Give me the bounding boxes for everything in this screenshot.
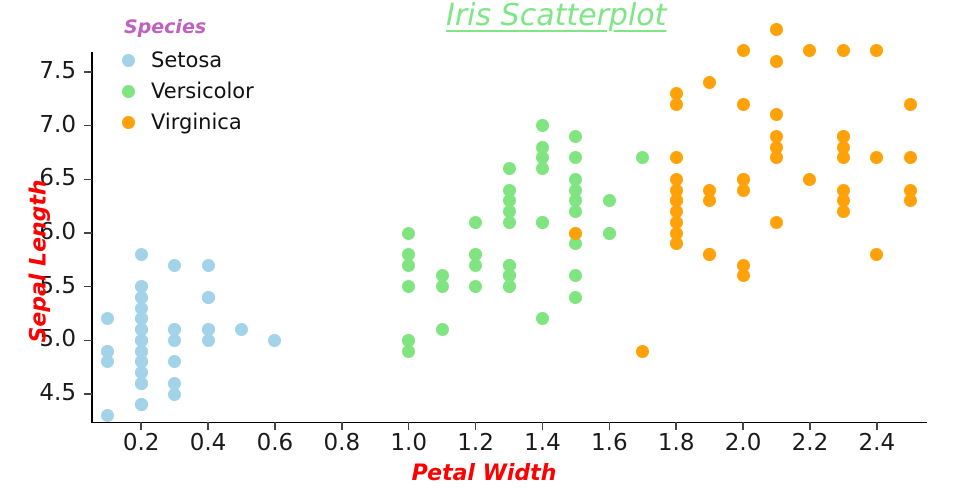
x-tick-label: 2.2 bbox=[775, 432, 845, 455]
data-point-versicolor bbox=[402, 227, 415, 240]
data-point-virginica bbox=[837, 205, 850, 218]
x-axis-spine bbox=[91, 422, 927, 424]
x-tick-label: 0.8 bbox=[307, 432, 377, 455]
data-point-virginica bbox=[870, 248, 883, 261]
data-point-versicolor bbox=[402, 334, 415, 347]
y-tick-mark bbox=[84, 125, 92, 127]
data-point-versicolor bbox=[569, 291, 582, 304]
data-point-setosa bbox=[168, 334, 181, 347]
data-point-virginica bbox=[837, 44, 850, 57]
legend-title: Species bbox=[124, 16, 254, 38]
legend-item-label: Setosa bbox=[151, 50, 222, 71]
legend-swatch-icon bbox=[122, 54, 135, 67]
data-point-versicolor bbox=[536, 216, 549, 229]
data-point-virginica bbox=[737, 269, 750, 282]
data-point-versicolor bbox=[503, 205, 516, 218]
x-tick-mark bbox=[876, 422, 878, 430]
x-tick-mark bbox=[809, 422, 811, 430]
x-axis-title: Petal Width bbox=[409, 461, 559, 486]
data-point-virginica bbox=[770, 151, 783, 164]
data-point-virginica bbox=[670, 184, 683, 197]
x-tick-label: 0.2 bbox=[106, 432, 176, 455]
data-point-virginica bbox=[904, 98, 917, 111]
y-axis-spine bbox=[91, 52, 93, 423]
data-point-virginica bbox=[670, 237, 683, 250]
data-point-virginica bbox=[837, 151, 850, 164]
data-point-versicolor bbox=[569, 130, 582, 143]
data-point-versicolor bbox=[469, 280, 482, 293]
data-point-versicolor bbox=[569, 269, 582, 282]
data-point-versicolor bbox=[402, 259, 415, 272]
data-point-virginica bbox=[870, 44, 883, 57]
data-point-versicolor bbox=[503, 259, 516, 272]
x-tick-label: 0.6 bbox=[240, 432, 310, 455]
legend-item-label: Versicolor bbox=[151, 81, 254, 102]
chart-title: Iris Scatterplot bbox=[446, 0, 666, 33]
data-point-virginica bbox=[737, 98, 750, 111]
data-point-virginica bbox=[670, 98, 683, 111]
data-point-versicolor bbox=[636, 151, 649, 164]
y-tick-mark bbox=[84, 232, 92, 234]
data-point-versicolor bbox=[503, 162, 516, 175]
data-point-virginica bbox=[770, 130, 783, 143]
x-tick-label: 1.8 bbox=[641, 432, 711, 455]
x-tick-mark bbox=[207, 422, 209, 430]
x-tick-mark bbox=[675, 422, 677, 430]
data-point-versicolor bbox=[469, 216, 482, 229]
data-point-virginica bbox=[737, 44, 750, 57]
y-tick-mark bbox=[84, 179, 92, 181]
data-point-versicolor bbox=[503, 280, 516, 293]
data-point-setosa bbox=[135, 280, 148, 293]
data-point-versicolor bbox=[569, 151, 582, 164]
data-point-versicolor bbox=[603, 194, 616, 207]
legend-item-versicolor[interactable]: Versicolor bbox=[118, 76, 254, 107]
x-tick-mark bbox=[475, 422, 477, 430]
data-point-virginica bbox=[770, 55, 783, 68]
data-point-virginica bbox=[770, 216, 783, 229]
data-point-virginica bbox=[770, 23, 783, 36]
y-tick-mark bbox=[84, 393, 92, 395]
data-point-versicolor bbox=[536, 312, 549, 325]
x-tick-label: 1.4 bbox=[507, 432, 577, 455]
data-point-setosa bbox=[168, 259, 181, 272]
x-tick-mark bbox=[542, 422, 544, 430]
data-point-versicolor bbox=[536, 141, 549, 154]
data-point-setosa bbox=[101, 409, 114, 422]
legend-swatch-icon bbox=[122, 116, 135, 129]
x-tick-mark bbox=[274, 422, 276, 430]
data-point-setosa bbox=[202, 291, 215, 304]
x-tick-mark bbox=[609, 422, 611, 430]
data-point-virginica bbox=[703, 76, 716, 89]
data-point-setosa bbox=[101, 345, 114, 358]
legend-item-virginica[interactable]: Virginica bbox=[118, 107, 254, 138]
data-point-setosa bbox=[268, 334, 281, 347]
x-tick-label: 1.2 bbox=[441, 432, 511, 455]
x-tick-mark bbox=[408, 422, 410, 430]
data-point-versicolor bbox=[436, 280, 449, 293]
data-point-virginica bbox=[703, 194, 716, 207]
data-point-virginica bbox=[870, 151, 883, 164]
data-point-setosa bbox=[202, 323, 215, 336]
x-tick-mark bbox=[341, 422, 343, 430]
y-tick-label: 7.5 bbox=[30, 60, 76, 83]
legend-swatch-icon bbox=[122, 85, 135, 98]
data-point-versicolor bbox=[536, 162, 549, 175]
data-point-versicolor bbox=[536, 119, 549, 132]
data-point-setosa bbox=[135, 248, 148, 261]
legend-item-setosa[interactable]: Setosa bbox=[118, 45, 254, 76]
data-point-virginica bbox=[770, 108, 783, 121]
x-tick-label: 2.4 bbox=[842, 432, 912, 455]
y-tick-label: 7.0 bbox=[30, 114, 76, 137]
data-point-setosa bbox=[202, 259, 215, 272]
data-point-versicolor bbox=[569, 194, 582, 207]
data-point-versicolor bbox=[402, 280, 415, 293]
scatterplot-figure: Iris Scatterplot 4.55.05.56.06.57.07.5 0… bbox=[0, 0, 960, 500]
data-point-versicolor bbox=[469, 259, 482, 272]
data-point-virginica bbox=[670, 151, 683, 164]
data-point-setosa bbox=[135, 377, 148, 390]
x-tick-label: 2.0 bbox=[708, 432, 778, 455]
data-point-setosa bbox=[168, 388, 181, 401]
data-point-virginica bbox=[803, 173, 816, 186]
data-point-virginica bbox=[904, 184, 917, 197]
data-point-setosa bbox=[101, 312, 114, 325]
data-point-setosa bbox=[135, 302, 148, 315]
data-point-virginica bbox=[569, 227, 582, 240]
data-point-versicolor bbox=[569, 173, 582, 186]
legend-item-label: Virginica bbox=[151, 112, 242, 133]
data-point-setosa bbox=[168, 355, 181, 368]
data-point-virginica bbox=[703, 248, 716, 261]
data-point-virginica bbox=[636, 345, 649, 358]
y-tick-mark bbox=[84, 71, 92, 73]
x-tick-mark bbox=[140, 422, 142, 430]
x-tick-label: 1.0 bbox=[374, 432, 444, 455]
data-point-setosa bbox=[135, 398, 148, 411]
x-tick-label: 1.6 bbox=[574, 432, 644, 455]
y-tick-mark bbox=[84, 286, 92, 288]
y-tick-mark bbox=[84, 340, 92, 342]
y-axis-title: Sepal Length bbox=[27, 193, 52, 343]
data-point-virginica bbox=[904, 151, 917, 164]
data-point-virginica bbox=[803, 44, 816, 57]
x-tick-label: 0.4 bbox=[173, 432, 243, 455]
legend: Species SetosaVersicolorVirginica bbox=[118, 16, 254, 138]
data-point-virginica bbox=[737, 173, 750, 186]
x-tick-mark bbox=[742, 422, 744, 430]
data-point-setosa bbox=[235, 323, 248, 336]
data-point-versicolor bbox=[603, 227, 616, 240]
y-tick-label: 4.5 bbox=[30, 382, 76, 405]
data-point-versicolor bbox=[436, 323, 449, 336]
data-point-setosa bbox=[135, 334, 148, 347]
